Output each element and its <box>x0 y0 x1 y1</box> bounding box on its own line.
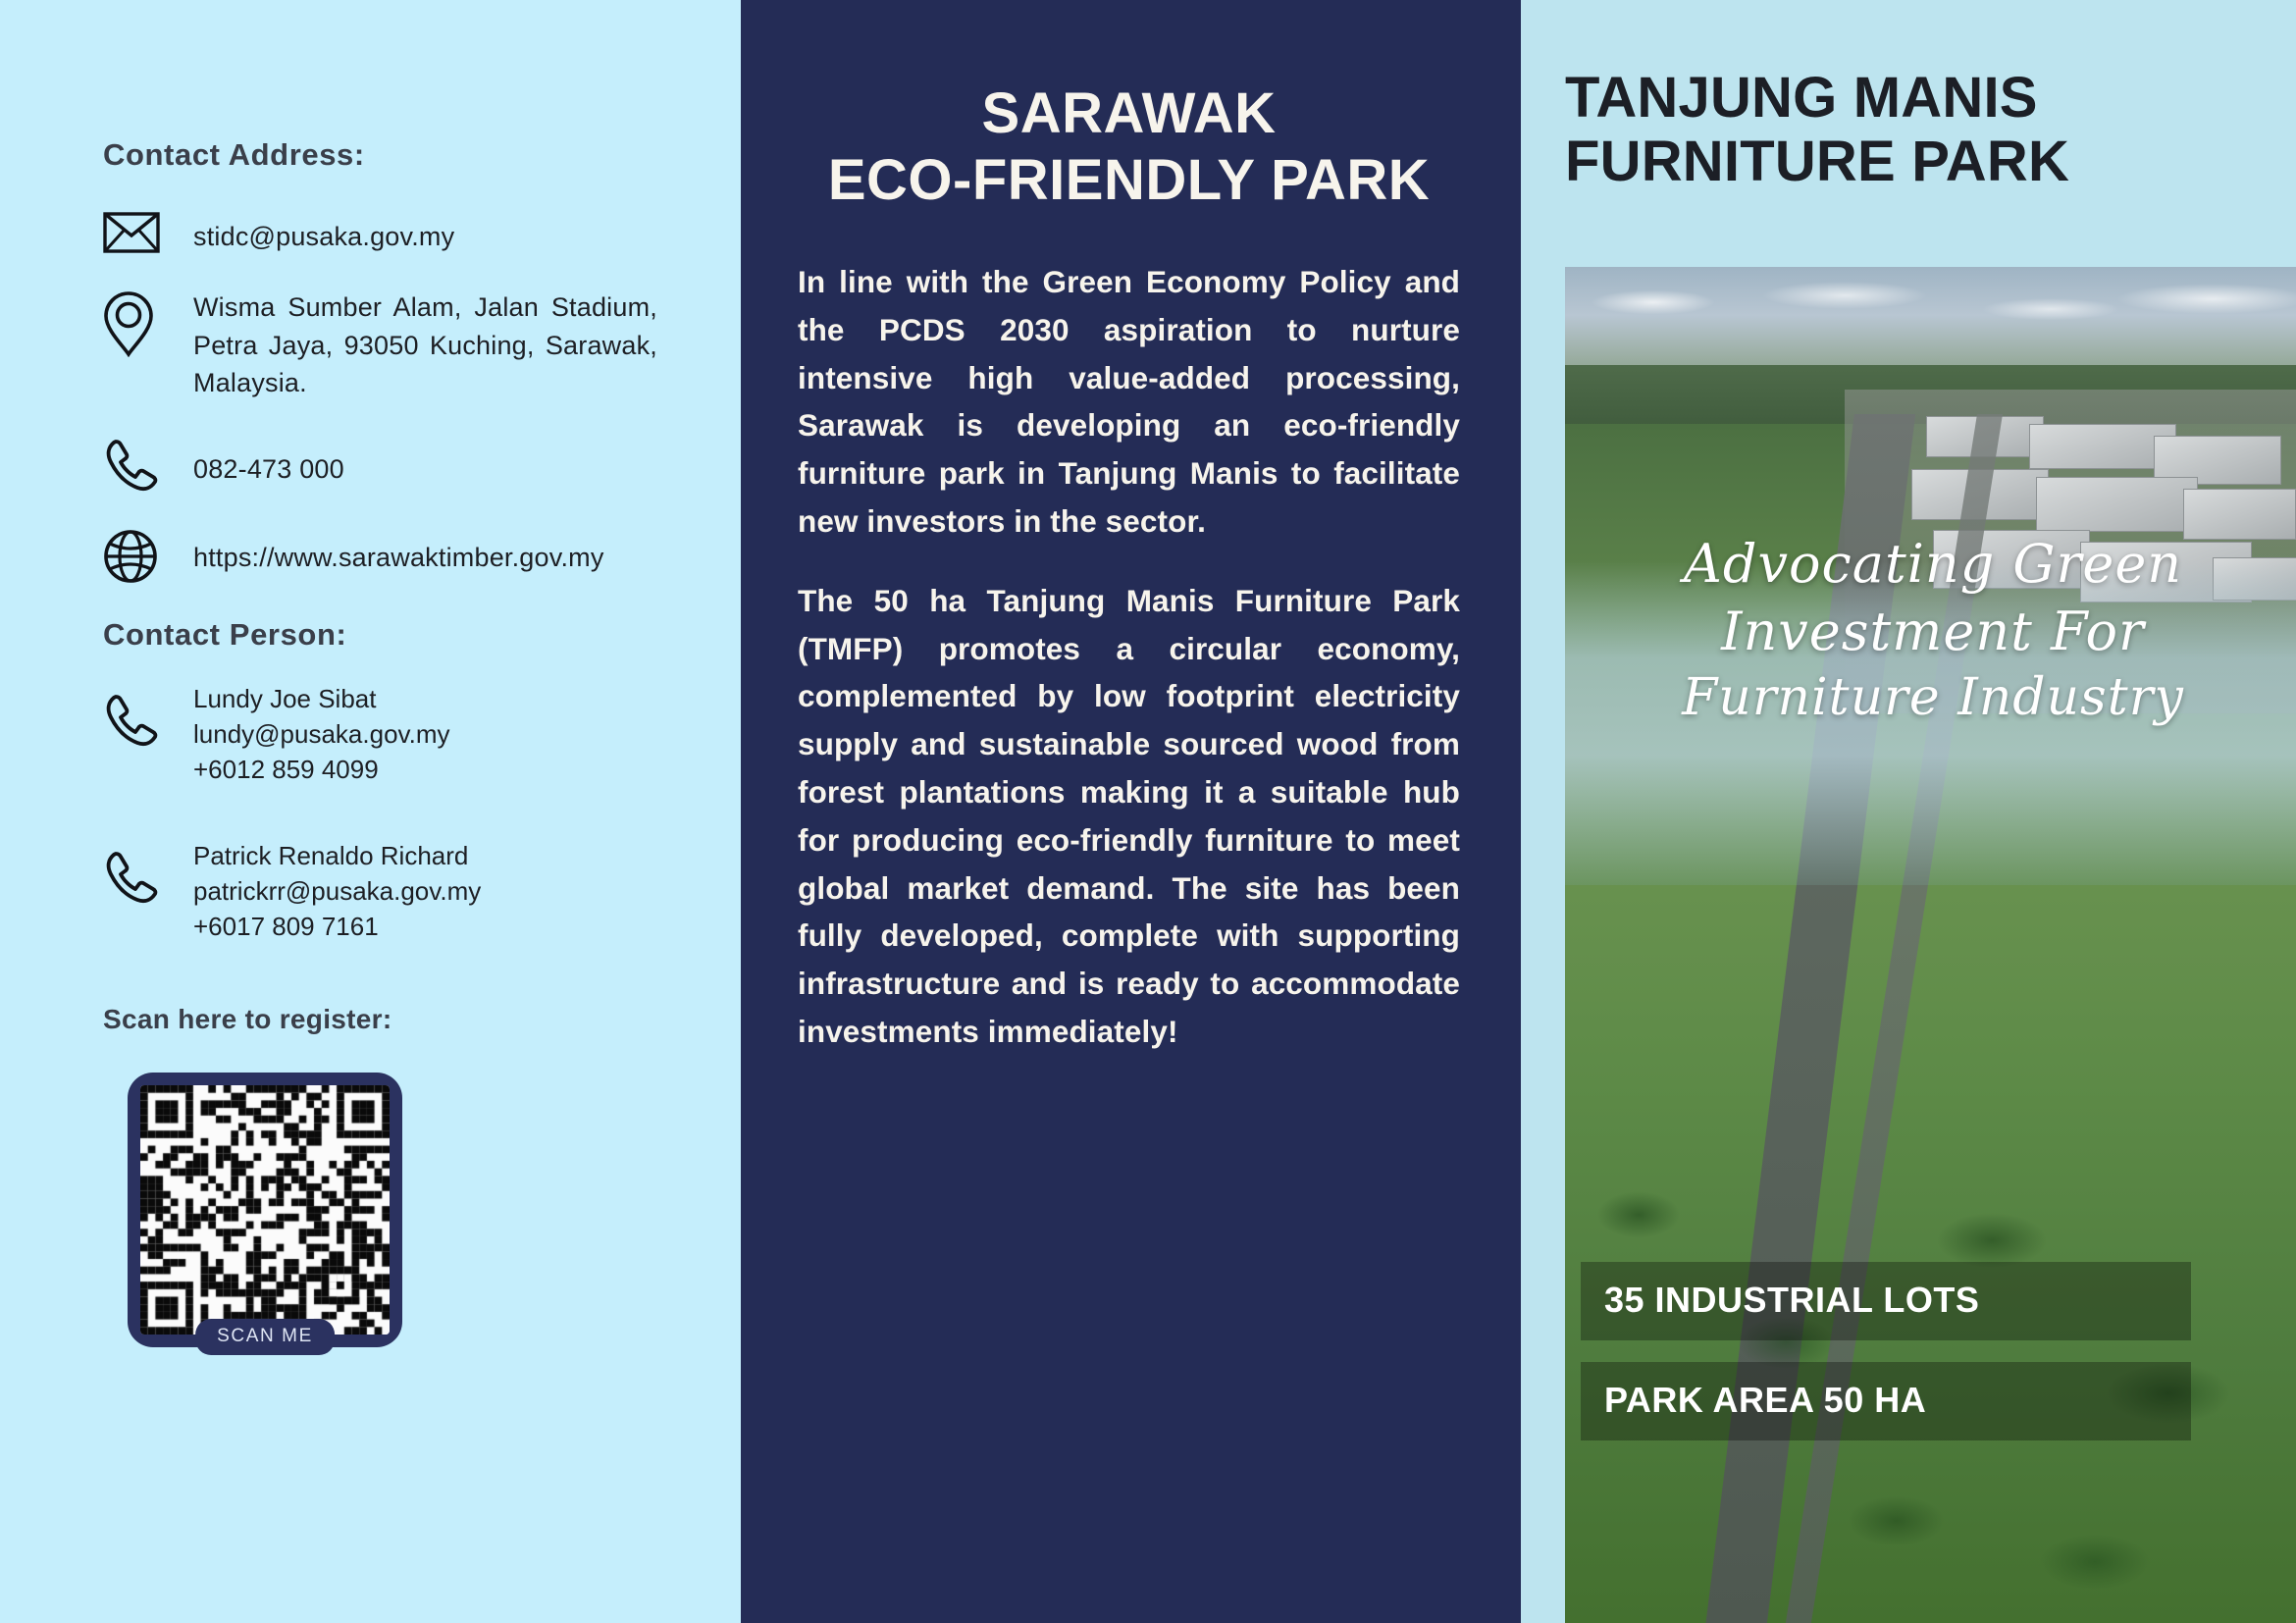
center-paragraph-2: The 50 ha Tanjung Manis Furniture Park (… <box>798 577 1460 1056</box>
phone-icon <box>103 435 193 494</box>
phone-icon <box>103 839 193 911</box>
tagline-line1: Advocating Green Investment For <box>1565 530 2296 665</box>
contact-address-text: Wisma Sumber Alam, Jalan Stadium, Petra … <box>193 288 657 401</box>
contact-person-1: Lundy Joe Sibat lundy@pusaka.gov.my +601… <box>103 682 657 788</box>
person-phone[interactable]: +6017 809 7161 <box>193 910 481 945</box>
center-description-panel: SARAWAK ECO-FRIENDLY PARK In line with t… <box>741 0 1521 1623</box>
right-cover-panel: TANJUNG MANIS FURNITURE PARK Advocating <box>1521 0 2296 1623</box>
envelope-icon <box>103 210 193 253</box>
photo-building <box>2036 477 2198 532</box>
photo-clouds <box>1565 275 2296 343</box>
contact-website-text[interactable]: https://www.sarawaktimber.gov.my <box>193 527 657 576</box>
right-title-line2: FURNITURE PARK <box>1565 131 2267 194</box>
qr-code-image[interactable] <box>140 1085 390 1335</box>
contact-address-heading: Contact Address: <box>103 137 657 173</box>
tagline-script: Advocating Green Investment For Furnitur… <box>1565 530 2296 731</box>
person-name: Patrick Renaldo Richard <box>193 839 481 874</box>
right-panel-title: TANJUNG MANIS FURNITURE PARK <box>1521 0 2296 194</box>
globe-icon <box>103 527 193 584</box>
person-email[interactable]: lundy@pusaka.gov.my <box>193 717 450 753</box>
person-phone[interactable]: +6012 859 4099 <box>193 753 450 788</box>
left-contact-panel: Contact Address: stidc@pusaka.gov.my <box>0 0 746 1623</box>
tagline-line2: Furniture Industry <box>1565 665 2296 731</box>
contact-person-2: Patrick Renaldo Richard patrickrr@pusaka… <box>103 839 657 945</box>
stat-park-area: PARK AREA 50 HA <box>1581 1362 2191 1440</box>
center-body-text: In line with the Green Economy Policy an… <box>798 258 1460 1056</box>
scan-here-heading: Scan here to register: <box>103 1004 657 1035</box>
right-title-line1: TANJUNG MANIS <box>1565 67 2267 131</box>
contact-row-phone: 082-473 000 <box>103 435 657 494</box>
qr-code[interactable]: SCAN ME <box>128 1073 402 1347</box>
brochure-page: Contact Address: stidc@pusaka.gov.my <box>0 0 2296 1623</box>
scan-me-badge: SCAN ME <box>195 1319 335 1355</box>
person-name: Lundy Joe Sibat <box>193 682 450 717</box>
phone-icon <box>103 682 193 754</box>
center-title-line2: ECO-FRIENDLY PARK <box>798 147 1460 214</box>
center-paragraph-1: In line with the Green Economy Policy an… <box>798 258 1460 546</box>
contact-person-heading: Contact Person: <box>103 617 657 653</box>
center-title-line1: SARAWAK <box>982 81 1277 145</box>
contact-row-website: https://www.sarawaktimber.gov.my <box>103 527 657 584</box>
person-details: Patrick Renaldo Richard patrickrr@pusaka… <box>193 839 481 945</box>
contact-row-email: stidc@pusaka.gov.my <box>103 210 657 255</box>
person-email[interactable]: patrickrr@pusaka.gov.my <box>193 874 481 910</box>
contact-row-address: Wisma Sumber Alam, Jalan Stadium, Petra … <box>103 288 657 401</box>
person-details: Lundy Joe Sibat lundy@pusaka.gov.my +601… <box>193 682 450 788</box>
contact-email-text[interactable]: stidc@pusaka.gov.my <box>193 210 657 255</box>
center-panel-title: SARAWAK ECO-FRIENDLY PARK <box>798 80 1460 215</box>
contact-phone-text[interactable]: 082-473 000 <box>193 435 657 488</box>
aerial-photo: Advocating Green Investment For Furnitur… <box>1565 267 2296 1623</box>
stat-industrial-lots: 35 INDUSTRIAL LOTS <box>1581 1262 2191 1340</box>
location-pin-icon <box>103 288 193 357</box>
